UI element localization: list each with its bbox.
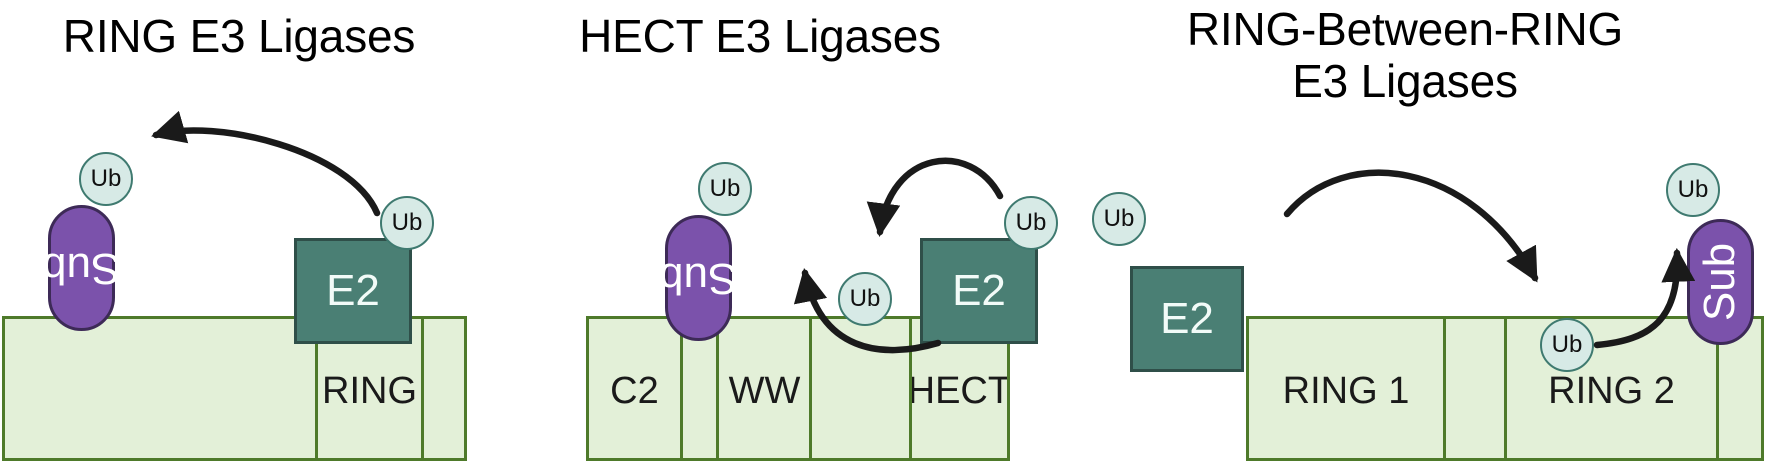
domain-spacer-1[interactable]: [1443, 316, 1507, 461]
domain-label: RING: [322, 372, 417, 410]
domain-bar-rbr: RING 1 RING 2: [1246, 316, 1770, 461]
ubiquitin-on-substrate-rbr[interactable]: Ub: [1666, 163, 1720, 217]
domain-c2[interactable]: C2: [586, 316, 683, 461]
e2-label: E2: [326, 266, 380, 316]
domain-label: RING 1: [1283, 372, 1410, 410]
ubiquitin-label: Ub: [850, 285, 881, 313]
ubiquitin-label: Ub: [1552, 331, 1583, 359]
arrow-ub-transfer-e2-to-hect: [880, 161, 1000, 232]
domain-ring-1[interactable]: RING 1: [1246, 316, 1446, 461]
ubiquitin-label: Ub: [392, 209, 423, 237]
panel-title-ring: RING E3 Ligases: [0, 10, 478, 62]
ubiquitin-label: Ub: [1104, 205, 1135, 233]
e2-box-hect[interactable]: E2: [920, 238, 1038, 344]
ubiquitin-on-ring2-domain[interactable]: Ub: [1540, 318, 1594, 372]
e2-box-rbr[interactable]: E2: [1130, 266, 1244, 372]
domain-ww[interactable]: WW: [716, 316, 812, 461]
domain-label: HECT: [909, 372, 1010, 410]
ubiquitin-on-e2-hect[interactable]: Ub: [1004, 196, 1058, 250]
ubiquitin-on-substrate-ring[interactable]: Ub: [79, 152, 133, 206]
panel-title-rbr: RING-Between-RING E3 Ligases: [1040, 3, 1770, 107]
ubiquitin-on-e2-ring[interactable]: Ub: [380, 196, 434, 250]
e2-box-ring[interactable]: E2: [294, 238, 412, 344]
domain-ring-2[interactable]: RING 2: [1504, 316, 1719, 461]
domain-spacer-2[interactable]: [809, 316, 911, 461]
ubiquitin-label: Ub: [91, 165, 122, 193]
e2-label: E2: [952, 266, 1006, 316]
domain-label: WW: [729, 372, 801, 410]
arrow-ub-transfer-e2-to-substrate: [156, 130, 377, 213]
ubiquitin-label: Ub: [710, 175, 741, 203]
substrate-ring[interactable]: Sub: [48, 205, 115, 331]
substrate-label: Sub: [42, 243, 120, 293]
ubiquitin-label: Ub: [1678, 176, 1709, 204]
panel-title-hect: HECT E3 Ligases: [520, 10, 1000, 62]
ubiquitin-on-hect-domain[interactable]: Ub: [838, 272, 892, 326]
substrate-label: Sub: [659, 253, 737, 303]
domain-label: C2: [610, 372, 659, 410]
substrate-rbr[interactable]: Sub: [1687, 219, 1754, 345]
e2-label: E2: [1160, 294, 1214, 344]
domain-spacer-left[interactable]: [2, 316, 318, 461]
ubiquitin-on-e2-rbr[interactable]: Ub: [1092, 192, 1146, 246]
substrate-hect[interactable]: Sub: [665, 215, 732, 341]
ubiquitin-on-substrate-hect[interactable]: Ub: [698, 162, 752, 216]
domain-label: RING 2: [1548, 372, 1675, 410]
domain-spacer-right[interactable]: [421, 316, 467, 461]
arrow-ub-transfer-e2-to-ring2: [1287, 173, 1535, 278]
ubiquitin-label: Ub: [1016, 209, 1047, 237]
figure-canvas: RING E3 Ligases HECT E3 Ligases RING-Bet…: [0, 0, 1772, 461]
substrate-label: Sub: [1696, 243, 1746, 321]
